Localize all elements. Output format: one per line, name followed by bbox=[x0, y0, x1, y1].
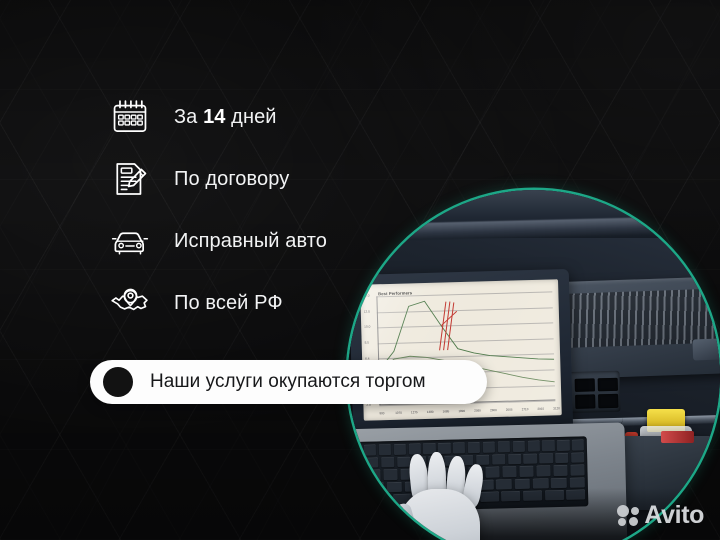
russia-map-pin-icon bbox=[108, 281, 152, 325]
avito-logo[interactable]: Avito bbox=[617, 502, 704, 528]
feature-label-suffix: дней bbox=[226, 106, 277, 128]
feature-label-highlight: 14 bbox=[203, 106, 225, 128]
gloved-hand bbox=[391, 452, 495, 540]
car-front-icon bbox=[108, 219, 152, 263]
feature-list: За 14 дней По договору bbox=[108, 88, 408, 336]
avito-dots-icon bbox=[617, 504, 641, 526]
battery-terminal-positive bbox=[661, 431, 694, 443]
feature-label-prefix: За bbox=[174, 106, 203, 128]
feature-item-contract: По договору bbox=[108, 150, 408, 208]
contract-pencil-icon bbox=[108, 157, 152, 201]
feature-item-coverage: По всей РФ bbox=[108, 274, 408, 332]
cover-lug bbox=[693, 339, 720, 361]
avito-wordmark: Avito bbox=[644, 503, 704, 528]
feature-label: По всей РФ bbox=[174, 292, 283, 314]
feature-label: По договору bbox=[174, 168, 289, 190]
feature-label: За 14 дней bbox=[174, 106, 277, 128]
feature-item-car: Исправный авто bbox=[108, 212, 408, 270]
tagline-pill[interactable]: Наши услуги окупаются торгом bbox=[90, 360, 487, 404]
feature-label: Исправный авто bbox=[174, 230, 327, 252]
black-circle-bullet-icon bbox=[103, 367, 133, 397]
tagline-text: Наши услуги окупаются торгом bbox=[150, 371, 426, 393]
calendar-icon bbox=[108, 95, 152, 139]
feature-item-term: За 14 дней bbox=[108, 88, 408, 146]
promo-banner: Best Performers 16.012.010.08.56.44.03.0… bbox=[0, 0, 720, 540]
